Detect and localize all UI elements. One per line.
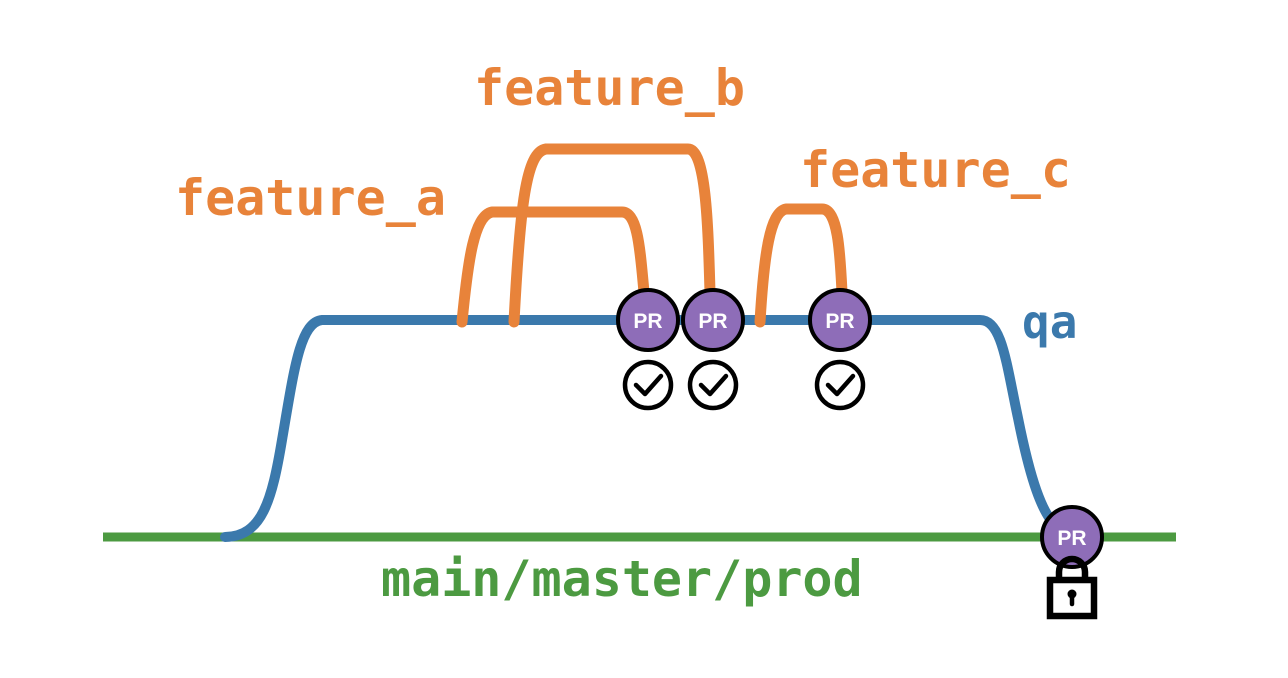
pr-node-label: PR bbox=[633, 310, 662, 333]
pr-node-label: PR bbox=[1057, 527, 1086, 550]
branch-label-feature-a: feature_a bbox=[175, 169, 446, 227]
git-branch-diagram: feature_a feature_b feature_c qa main/ma… bbox=[0, 0, 1288, 678]
pr-node-2[interactable]: PR bbox=[683, 290, 743, 350]
check-circle-icon bbox=[817, 362, 863, 408]
pr-node-1[interactable]: PR bbox=[618, 290, 678, 350]
branch-line-feature-b bbox=[514, 149, 710, 322]
feature-b-branch-line bbox=[514, 149, 710, 322]
pr-node-label: PR bbox=[825, 310, 854, 333]
branch-label-qa: qa bbox=[1022, 295, 1077, 349]
branch-line-qa bbox=[225, 320, 1058, 537]
git-flow-canvas: feature_a feature_b feature_c qa main/ma… bbox=[0, 0, 1288, 678]
branch-label-feature-b: feature_b bbox=[474, 59, 745, 117]
check-circle-icon bbox=[625, 362, 671, 408]
check-circle-icon bbox=[690, 362, 736, 408]
branch-label-feature-c: feature_c bbox=[800, 141, 1071, 199]
pr-node-label: PR bbox=[698, 310, 727, 333]
branch-label-main: main/master/prod bbox=[381, 550, 863, 608]
branch-line-feature-a bbox=[462, 212, 644, 322]
qa-branch-line bbox=[225, 320, 1058, 537]
feature-a-branch-line bbox=[462, 212, 644, 322]
pr-node-3[interactable]: PR bbox=[810, 290, 870, 350]
